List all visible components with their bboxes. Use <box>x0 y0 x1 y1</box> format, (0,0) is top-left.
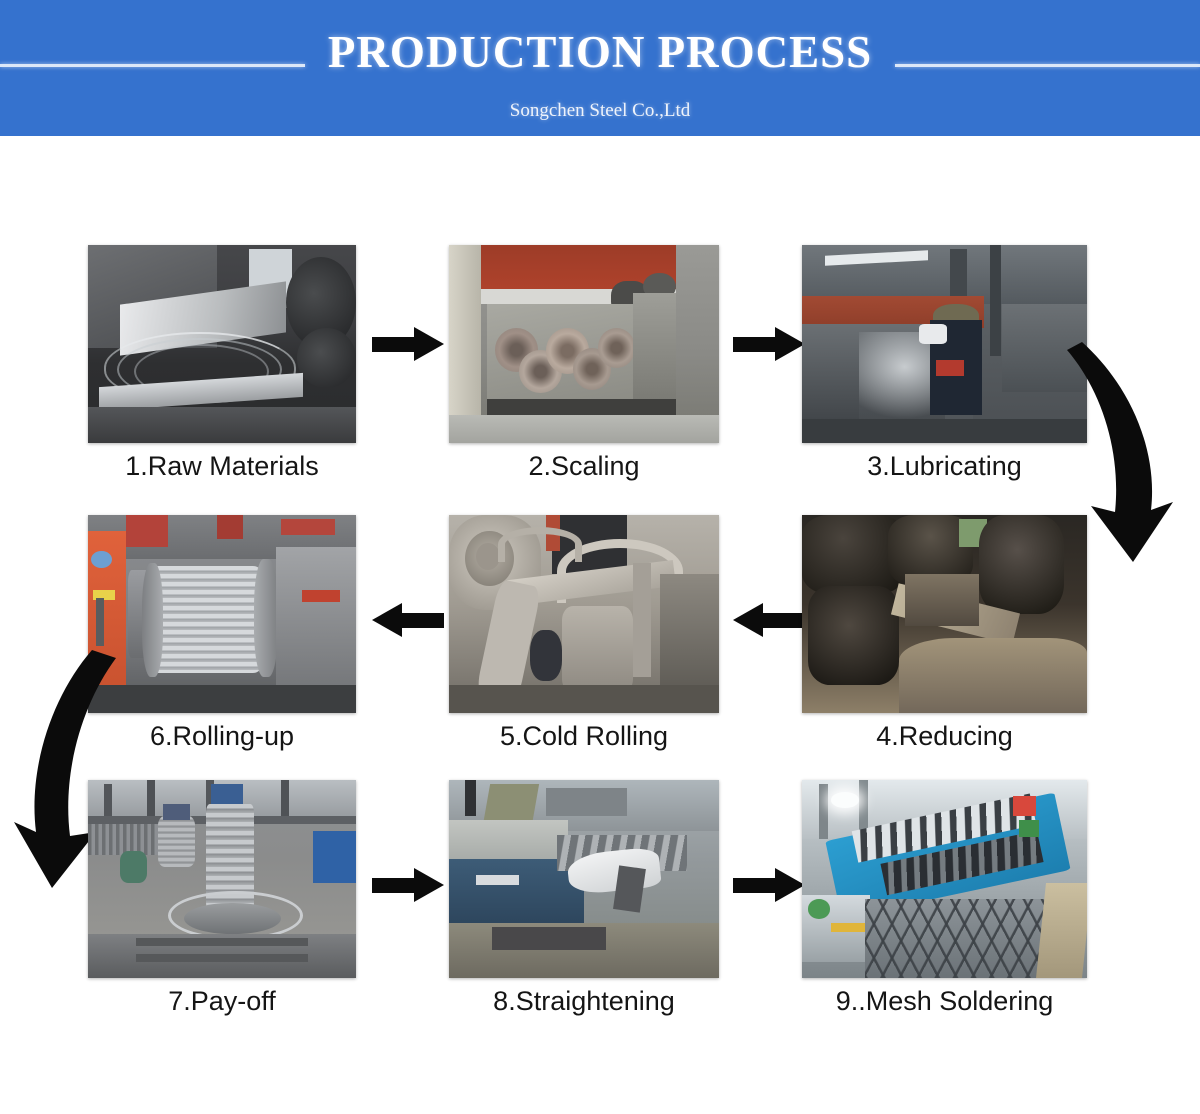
step-label-9: 9..Mesh Soldering <box>762 986 1127 1017</box>
step-photo-7 <box>88 780 356 978</box>
step-label-5: 5.Cold Rolling <box>409 721 759 752</box>
arrow-step7-to-step8 <box>372 868 444 902</box>
step-photo-4 <box>802 515 1087 713</box>
step-photo-9 <box>802 780 1087 978</box>
page-title: PRODUCTION PROCESS <box>0 30 1200 75</box>
header-banner: PRODUCTION PROCESS Songchen Steel Co.,Lt… <box>0 0 1200 136</box>
step-card-5[interactable]: 5.Cold Rolling <box>449 515 719 713</box>
step-label-2: 2.Scaling <box>409 451 759 482</box>
step-label-7: 7.Pay-off <box>48 986 396 1017</box>
step-photo-1 <box>88 245 356 443</box>
step-card-2[interactable]: 2.Scaling <box>449 245 719 443</box>
step-card-7[interactable]: 7.Pay-off <box>88 780 356 978</box>
step-card-3[interactable]: 3.Lubricating <box>802 245 1087 443</box>
step-label-4: 4.Reducing <box>762 721 1127 752</box>
arrow-step8-to-step9 <box>733 868 805 902</box>
step-label-1: 1.Raw Materials <box>48 451 396 482</box>
company-name: Songchen Steel Co.,Ltd <box>0 101 1200 120</box>
step-photo-2 <box>449 245 719 443</box>
step-photo-3 <box>802 245 1087 443</box>
step-card-9[interactable]: 9..Mesh Soldering <box>802 780 1087 978</box>
step-card-4[interactable]: 4.Reducing <box>802 515 1087 713</box>
step-label-8: 8.Straightening <box>409 986 759 1017</box>
step-photo-8 <box>449 780 719 978</box>
step-card-1[interactable]: 1.Raw Materials <box>88 245 356 443</box>
arrow-step1-to-step2 <box>372 327 444 361</box>
step-card-8[interactable]: 8.Straightening <box>449 780 719 978</box>
arrow-step4-to-step5 <box>733 603 805 637</box>
arrow-step2-to-step3 <box>733 327 805 361</box>
step-photo-5 <box>449 515 719 713</box>
arrow-step5-to-step6 <box>372 603 444 637</box>
